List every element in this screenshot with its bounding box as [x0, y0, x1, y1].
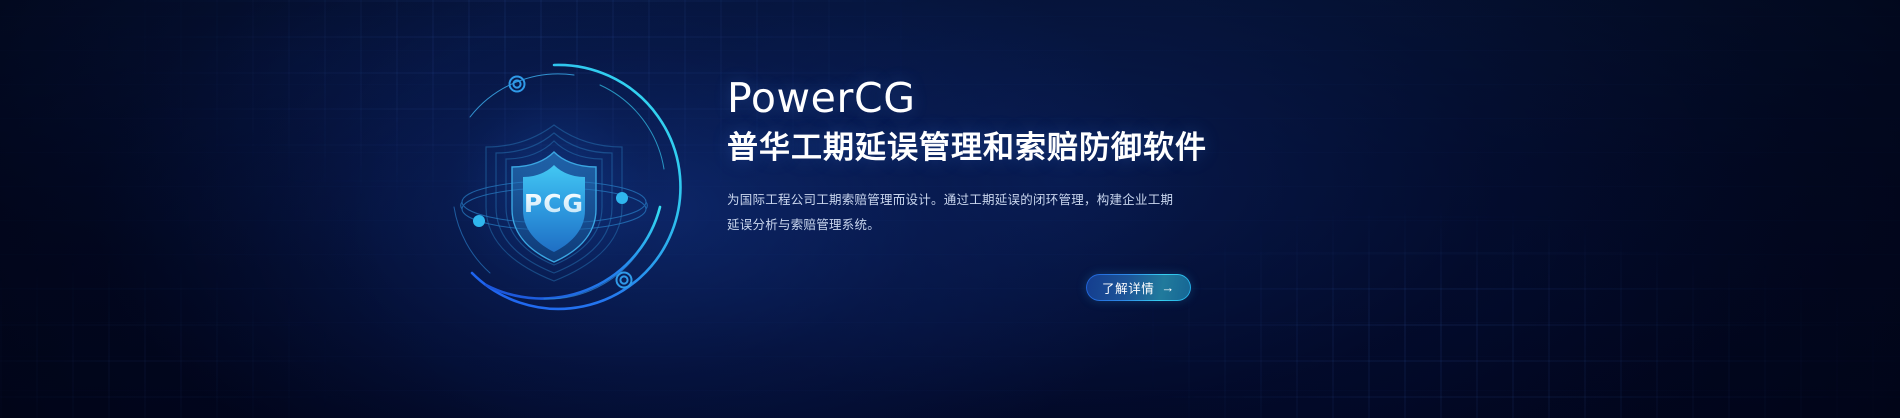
shield-label: PCG	[524, 189, 584, 218]
cta-container: 了解详情 →	[1086, 274, 1191, 301]
page-title: 普华工期延误管理和索赔防御软件	[727, 129, 1507, 167]
learn-more-label: 了解详情	[1102, 278, 1154, 297]
hero-banner: PCG PowerCG 普华工期延误管理和索赔防御软件 为国际工程公司工期索赔管…	[0, 0, 1900, 418]
orbit-dot-left	[473, 215, 485, 227]
hero-content: PowerCG 普华工期延误管理和索赔防御软件 为国际工程公司工期索赔管理而设计…	[727, 76, 1507, 238]
orbit-dot-right	[616, 192, 628, 204]
learn-more-button[interactable]: 了解详情 →	[1086, 274, 1191, 301]
product-wordmark: PowerCG	[727, 76, 1507, 120]
pcg-shield-emblem: PCG	[424, 57, 684, 317]
arrow-right-icon: →	[1161, 281, 1175, 294]
hero-description: 为国际工程公司工期索赔管理而设计。通过工期延误的闭环管理，构建企业工期延误分析与…	[727, 188, 1179, 238]
